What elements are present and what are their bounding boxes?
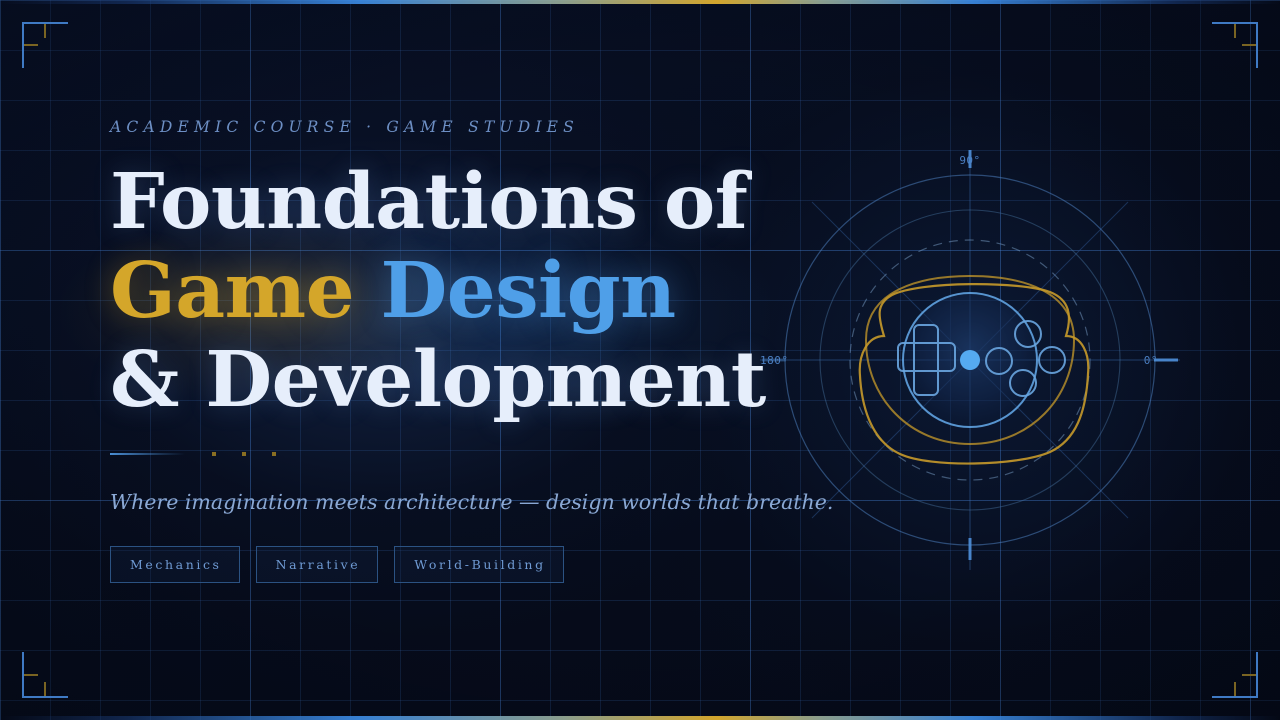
label-degree-right: 0°: [1144, 354, 1158, 367]
tag-list: Mechanics Narrative World-Building: [110, 546, 750, 583]
corner-bracket-top-right: [1212, 22, 1258, 68]
top-accent-bar: [0, 0, 1280, 4]
tag-narrative[interactable]: Narrative: [256, 546, 379, 583]
bracket-arm-vertical: [1256, 652, 1258, 698]
bracket-tick-horizontal: [1242, 674, 1256, 676]
gamepad-center-dot: [960, 350, 980, 370]
divider-dot: [272, 452, 276, 456]
divider-dot: [242, 452, 246, 456]
divider-rule: [110, 453, 185, 455]
bracket-tick-horizontal: [24, 44, 38, 46]
title-line-2: Game Design: [110, 247, 750, 336]
text-column: ACADEMIC COURSE · GAME STUDIES Foundatio…: [110, 118, 750, 583]
title-line-3: & Development: [110, 336, 750, 425]
bracket-arm-horizontal: [22, 696, 68, 698]
bracket-arm-horizontal: [1212, 696, 1258, 698]
bracket-tick-horizontal: [24, 674, 38, 676]
bracket-tick-vertical: [44, 24, 46, 38]
bracket-tick-vertical: [1234, 24, 1236, 38]
title-slide: ACADEMIC COURSE · GAME STUDIES Foundatio…: [0, 0, 1280, 720]
bottom-accent-bar: [0, 716, 1280, 720]
title-line-1: Foundations of: [110, 158, 750, 247]
corner-bracket-bottom-right: [1212, 652, 1258, 698]
gamepad-blueprint-diagram: 90° 180° 0°: [750, 140, 1190, 580]
tag-world-building[interactable]: World-Building: [394, 546, 563, 583]
corner-bracket-bottom-left: [22, 652, 68, 698]
label-degree-top: 90°: [959, 154, 980, 167]
tick-bottom: [969, 538, 972, 560]
bracket-tick-vertical: [44, 682, 46, 696]
bracket-tick-horizontal: [1242, 44, 1256, 46]
bracket-arm-vertical: [1256, 22, 1258, 68]
divider-dot: [212, 452, 216, 456]
label-degree-left: 180°: [760, 354, 789, 367]
eyebrow-label: ACADEMIC COURSE · GAME STUDIES: [110, 118, 750, 136]
corner-bracket-top-left: [22, 22, 68, 68]
title-word-design: Design: [380, 246, 675, 336]
tag-mechanics[interactable]: Mechanics: [110, 546, 240, 583]
title-word-game: Game: [110, 246, 354, 336]
divider-dots: [212, 452, 276, 456]
subtitle: Where imagination meets architecture — d…: [110, 490, 750, 514]
divider-row: [110, 449, 750, 459]
bracket-tick-vertical: [1234, 682, 1236, 696]
page-title: Foundations of Game Design & Development: [110, 158, 750, 425]
